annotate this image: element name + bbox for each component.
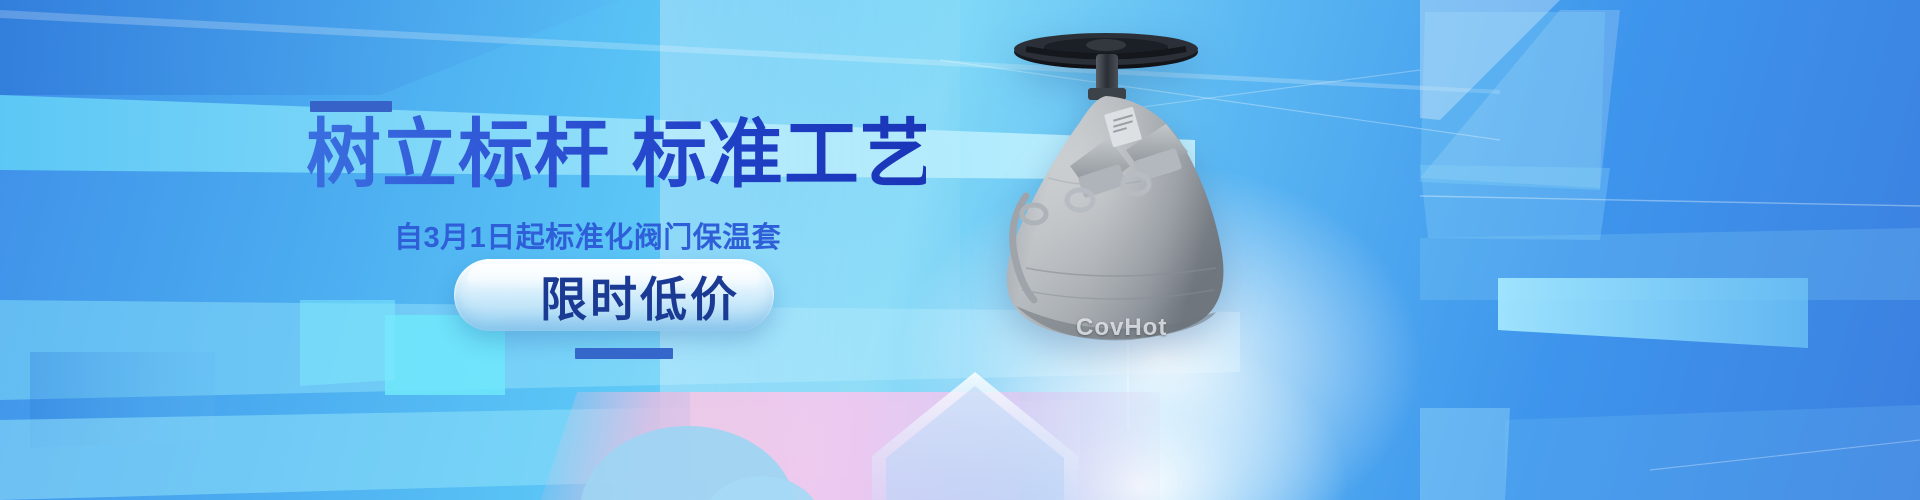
subtitle: 自3月1日起标准化阀门保温套 [394,214,781,256]
promo-banner: 树立标杆 标准工艺 自3月1日起标准化阀门保温套 限时低价 [0,0,1920,500]
copy-block: 树立标杆 标准工艺 自3月1日起标准化阀门保温套 限时低价 [0,0,960,500]
cta-button-label[interactable]: 限时低价 [506,264,774,326]
accent-dash-bottom-icon [575,348,673,359]
page-title: 树立标杆 标准工艺 [306,112,926,196]
accent-dash-top-icon [310,101,392,112]
product-image: CovHot [930,18,1290,378]
valve-insulation-jacket-illustration [930,18,1290,378]
